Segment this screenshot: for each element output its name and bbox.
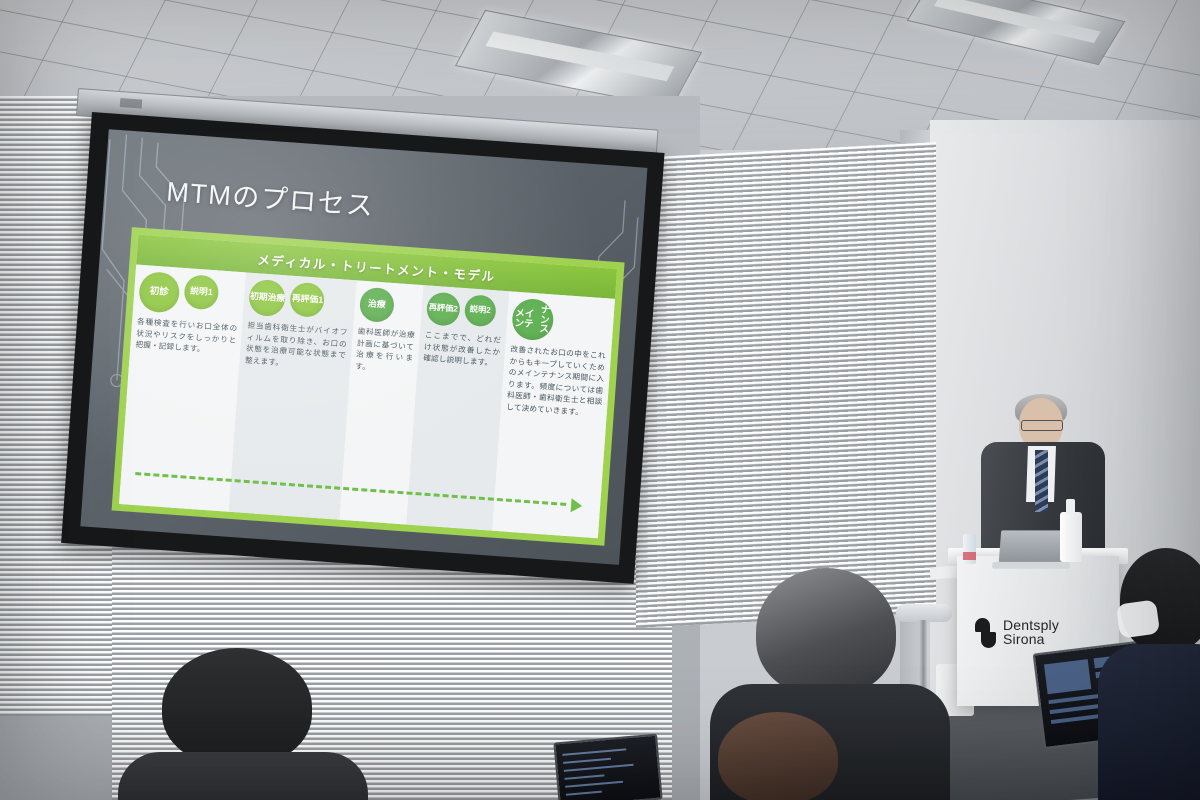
process-step-bubble: 説明2	[464, 294, 497, 327]
hand-sanitizer-bottle	[1060, 512, 1082, 562]
bubble-label-line: 治療	[368, 300, 386, 310]
process-step-description: 歯科医師が治療計画に基づいて治療を行います。	[355, 326, 415, 376]
shoulders	[118, 752, 368, 800]
bubble-row: 初期治療再評価1	[248, 279, 351, 322]
water-bottle	[963, 534, 976, 564]
bubble-label-line: 再評価	[428, 304, 453, 314]
head	[162, 648, 312, 766]
head	[718, 712, 838, 800]
slide-title: MTMのプロセス	[165, 170, 376, 224]
attendee-tablet	[553, 734, 662, 800]
bubble-row: 初診説明1	[138, 271, 241, 318]
bubble-row: メインテナンス	[511, 298, 609, 346]
bubble-label-line: 治療	[267, 293, 285, 303]
presenter-tie	[1035, 450, 1048, 512]
process-step-description: 各種検査を行いお口全体の状況やリスクをしっかりと把握・記録します。	[135, 316, 238, 358]
bubble-label-line: 2	[486, 307, 491, 316]
presentation-room-photo: MTMのプロセス メディカル・トリートメント・モデル 初診説明1各種検査を行いお…	[0, 0, 1200, 800]
bubble-row: 治療	[359, 287, 418, 325]
window-blinds-right	[636, 142, 936, 628]
projection-screen: MTMのプロセス メディカル・トリートメント・モデル 初診説明1各種検査を行いお…	[61, 112, 664, 584]
process-step-bubble: 初診	[138, 271, 181, 314]
process-step-bubble: 初期治療	[248, 279, 286, 317]
diagram-frame: メディカル・トリートメント・モデル 初診説明1各種検査を行いお口全体の状況やリス…	[112, 227, 625, 546]
bubble-label-line: 説明1	[190, 287, 213, 298]
bubble-label-line: 2	[453, 306, 458, 315]
bubble-label-line: 1	[318, 296, 324, 306]
process-step-description: ここまでで、どれだけ状態が改善したか確認し説明します。	[423, 329, 502, 369]
dentsply-sirona-logo: Dentsply Sirona	[975, 618, 1059, 648]
brand-line-1: Dentsply	[1003, 618, 1059, 632]
process-step-bubble: 説明1	[183, 274, 219, 310]
process-columns: 初診説明1各種検査を行いお口全体の状況やリスクをしっかりと把握・記録します。初期…	[119, 265, 615, 539]
presenter-laptop	[999, 530, 1064, 562]
presenter-glasses	[1021, 420, 1063, 431]
bubble-label-line: 初期	[250, 292, 268, 302]
bubble-label-line: メインテ	[512, 308, 537, 330]
process-step-bubble: 治療	[359, 287, 395, 323]
audience-member-brown-hair	[694, 712, 884, 800]
process-step-bubble: 再評価1	[289, 282, 325, 318]
process-flow-arrow-head	[571, 498, 583, 513]
housing-badge	[120, 98, 143, 109]
dentsply-s-mark-icon	[975, 618, 996, 648]
dentsply-sirona-wordmark: Dentsply Sirona	[1003, 618, 1059, 646]
process-step-bubble: メインテナンス	[511, 298, 555, 342]
bubble-label-line: 再評価	[292, 294, 319, 305]
bubble-row: 再評価2説明2	[426, 291, 505, 329]
projected-slide: MTMのプロセス メディカル・トリートメント・モデル 初診説明1各種検査を行いお…	[80, 129, 647, 565]
bubble-label-line: ナンス	[535, 305, 555, 336]
bubble-label-line: 説明	[469, 306, 486, 316]
audience-member-masked-right	[1112, 548, 1200, 800]
process-step-bubble: 再評価2	[426, 291, 461, 326]
diagram-body: メディカル・トリートメント・モデル 初診説明1各種検査を行いお口全体の状況やリス…	[119, 235, 617, 539]
face-mask	[1116, 599, 1160, 638]
audience-member-foreground-left	[118, 648, 368, 800]
process-step-description: 担当歯科衛生士がバイオフィルムを取り除き、お口の状態を治療可能な状態まで整えます…	[245, 320, 348, 373]
process-step-description: 改善されたお口の中をこれからもキープしていくためのメインテナンス期間に入ります。…	[506, 344, 606, 420]
brand-line-2: Sirona	[1003, 632, 1059, 646]
bubble-label-line: 初診	[149, 287, 169, 298]
head	[756, 568, 896, 696]
shoulders	[1098, 644, 1200, 800]
